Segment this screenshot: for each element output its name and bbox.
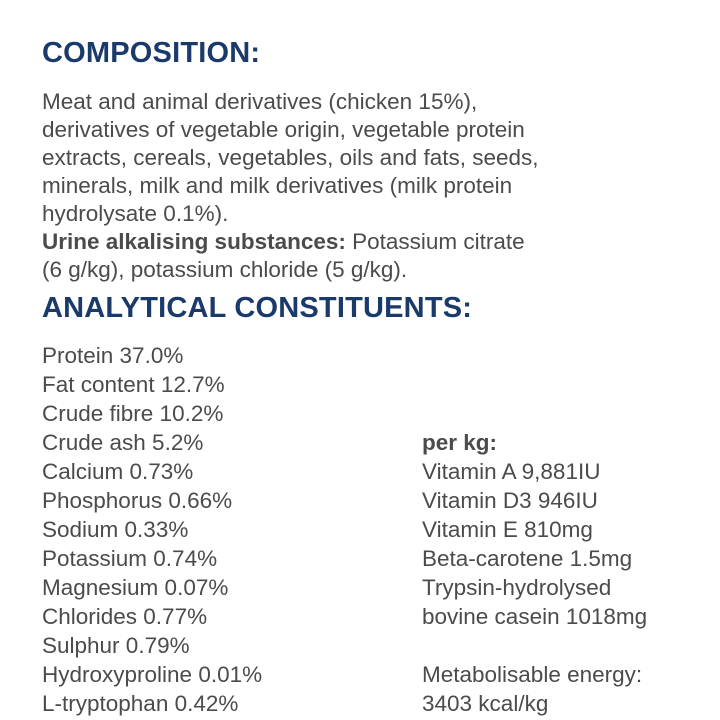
composition-heading: COMPOSITION: — [42, 39, 260, 68]
metabolisable-energy-label: Metabolisable energy: — [422, 660, 647, 689]
urine-alkalising-value-continued: (6 g/kg), potassium chloride (5 g/kg). — [42, 256, 682, 284]
composition-line: hydrolysate 0.1%). — [42, 200, 682, 228]
micronutrient-item: Trypsin-hydrolysed — [422, 573, 647, 602]
constituent-item: Crude ash 5.2% — [42, 428, 262, 457]
constituent-item: Crude fibre 10.2% — [42, 399, 262, 428]
constituents-right-column: per kg: Vitamin A 9,881IU Vitamin D3 946… — [422, 428, 647, 718]
constituent-item: Chlorides 0.77% — [42, 602, 262, 631]
constituents-section-header: ANALYTICAL CONSTITUENTS: — [42, 294, 472, 323]
urine-alkalising-line: Urine alkalising substances: Potassium c… — [42, 228, 682, 256]
micronutrient-item: bovine casein 1018mg — [422, 602, 647, 631]
composition-section-header: COMPOSITION: — [42, 39, 260, 68]
composition-line: Meat and animal derivatives (chicken 15%… — [42, 88, 682, 116]
constituent-item: Phosphorus 0.66% — [42, 486, 262, 515]
composition-body: Meat and animal derivatives (chicken 15%… — [42, 88, 682, 284]
composition-line: derivatives of vegetable origin, vegetab… — [42, 116, 682, 144]
micronutrient-item: Vitamin A 9,881IU — [422, 457, 647, 486]
constituent-item: Calcium 0.73% — [42, 457, 262, 486]
constituent-item: Sulphur 0.79% — [42, 631, 262, 660]
micronutrient-item: Vitamin D3 946IU — [422, 486, 647, 515]
metabolisable-energy-value: 3403 kcal/kg — [422, 689, 647, 718]
column-spacer — [422, 631, 647, 660]
constituents-heading: ANALYTICAL CONSTITUENTS: — [42, 294, 472, 323]
constituents-left-column: Protein 37.0% Fat content 12.7% Crude fi… — [42, 341, 262, 718]
urine-alkalising-value: Potassium citrate — [346, 229, 525, 254]
composition-line: extracts, cereals, vegetables, oils and … — [42, 144, 682, 172]
constituent-item: Sodium 0.33% — [42, 515, 262, 544]
constituent-item: Potassium 0.74% — [42, 544, 262, 573]
constituent-item: Hydroxyproline 0.01% — [42, 660, 262, 689]
constituent-item: Magnesium 0.07% — [42, 573, 262, 602]
metabolisable-energy-block: Metabolisable energy: 3403 kcal/kg — [422, 660, 647, 718]
constituent-item: Fat content 12.7% — [42, 370, 262, 399]
constituent-item: Protein 37.0% — [42, 341, 262, 370]
per-kg-label: per kg: — [422, 428, 647, 457]
composition-line: minerals, milk and milk derivatives (mil… — [42, 172, 682, 200]
micronutrient-item: Vitamin E 810mg — [422, 515, 647, 544]
micronutrient-item: Beta-carotene 1.5mg — [422, 544, 647, 573]
constituent-item: L-tryptophan 0.42% — [42, 689, 262, 718]
urine-alkalising-label: Urine alkalising substances: — [42, 229, 346, 254]
nutrition-label-page: COMPOSITION: Meat and animal derivatives… — [0, 0, 720, 720]
